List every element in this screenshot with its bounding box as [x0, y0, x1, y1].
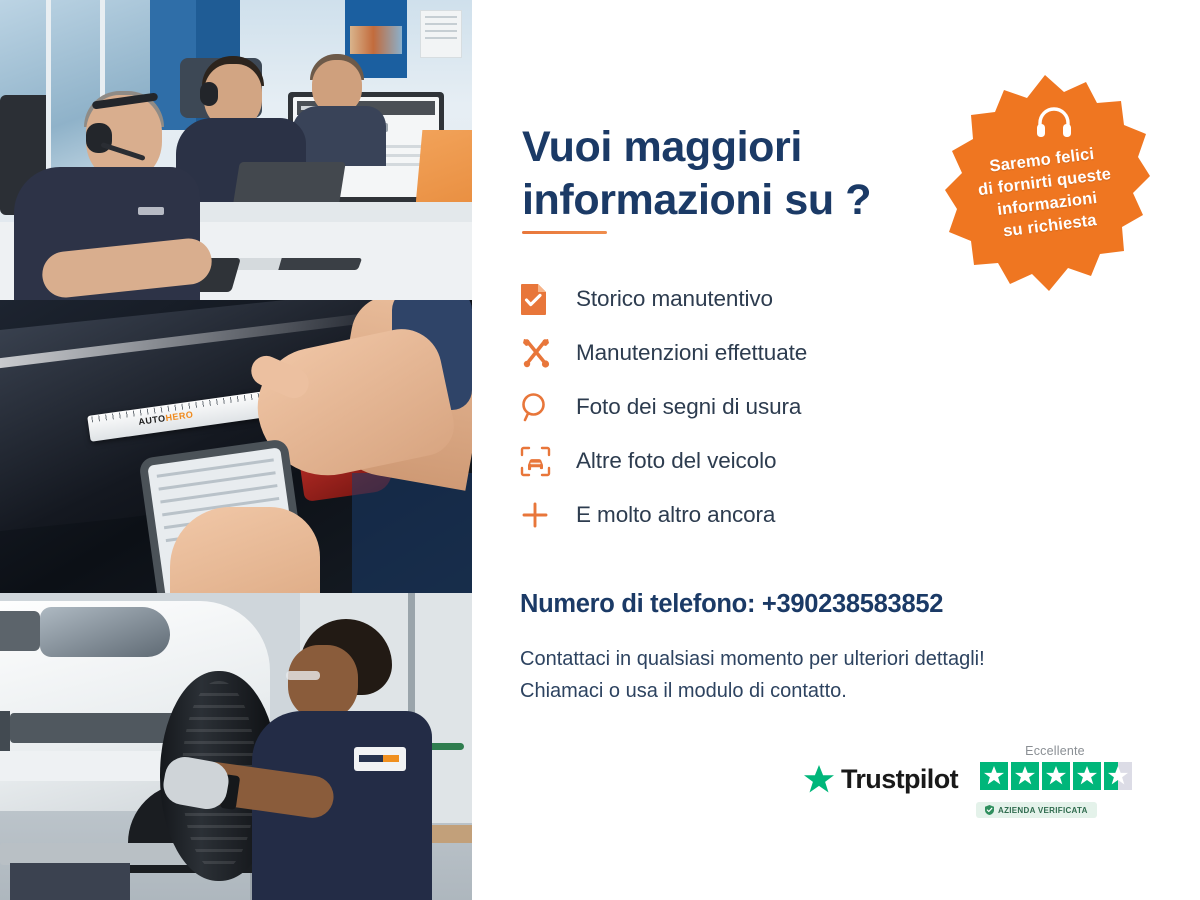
inspector-hand-two-decor — [170, 507, 320, 593]
feature-label: Manutenzioni effettuate — [576, 340, 807, 366]
headline-line-2: informazioni su ? — [522, 176, 871, 224]
trustpilot-star-rating — [980, 762, 1132, 790]
feature-item-storico-manutentivo: Storico manutentivo — [520, 272, 1000, 326]
desk-back-decor — [180, 202, 472, 222]
feature-label: Altre foto del veicolo — [576, 448, 776, 474]
star-1 — [980, 762, 1008, 790]
trustpilot-logo: Trustpilot — [804, 764, 958, 795]
car-vent-decor-2 — [0, 711, 10, 751]
feature-label: E molto altro ancora — [576, 502, 775, 528]
title-underline-rule — [522, 231, 607, 234]
car-scan-frame-icon — [520, 446, 576, 477]
page-title: Vuoi maggiori informazioni su ? — [522, 121, 942, 228]
agent-three-decor — [292, 54, 386, 150]
trustpilot-widget[interactable]: Trustpilot Eccellente — [804, 750, 1144, 850]
status-badge: AZIENDA VERIFICATA — [976, 802, 1097, 818]
phone-number-line: Numero di telefono: +390238583852 — [520, 590, 943, 619]
headline-line-1: Vuoi maggiori — [522, 123, 802, 171]
shield-check-icon — [985, 805, 994, 815]
contact-description: Contattaci in qualsiasi momento per ulte… — [520, 643, 1160, 708]
feature-list: Storico manutentivo Manutenzi — [520, 272, 1000, 542]
feature-item-altre-foto-veicolo: Altre foto del veicolo — [520, 434, 1000, 488]
contact-line-2: Chiamaci o usa il modulo di contatto. — [520, 675, 1160, 707]
agent-one-decor — [8, 95, 208, 300]
feature-item-manutenzioni-effettuate: Manutenzioni effettuate — [520, 326, 1000, 380]
plus-icon — [520, 500, 576, 530]
headset-icon — [1036, 105, 1072, 139]
feature-label: Foto dei segni di usura — [576, 394, 801, 420]
star-2 — [1011, 762, 1039, 790]
mechanic-decor — [242, 619, 442, 900]
contact-line-1: Contattaci in qualsiasi momento per ulte… — [520, 643, 1160, 675]
photo-column: AUTOHERO — [0, 0, 472, 900]
wall-paper-decor — [420, 10, 462, 58]
background-blue-decor — [352, 473, 472, 593]
star-4 — [1073, 762, 1101, 790]
poster-image-decor — [350, 26, 402, 54]
call-center-agents-photo — [0, 0, 472, 300]
magnifier-icon — [520, 392, 576, 422]
car-vent-decor — [10, 713, 180, 743]
star-3 — [1042, 762, 1070, 790]
feature-label: Storico manutentivo — [576, 286, 773, 312]
feature-item-foto-segni-usura: Foto dei segni di usura — [520, 380, 1000, 434]
trustpilot-star-icon — [804, 765, 834, 794]
tools-wrench-screwdriver-icon — [520, 337, 576, 369]
car-grille-decor — [0, 611, 40, 651]
vehicle-inspection-photo: AUTOHERO — [0, 300, 472, 593]
trustpilot-rating-label: Eccellente — [980, 744, 1130, 758]
tyre-service-photo — [0, 593, 472, 900]
verified-label: AZIENDA VERIFICATA — [998, 806, 1088, 815]
document-check-icon — [520, 283, 576, 316]
trustpilot-wordmark: Trustpilot — [841, 764, 958, 795]
feature-item-molto-altro: E molto altro ancora — [520, 488, 1000, 542]
promo-banner: AUTOHERO — [0, 0, 1200, 900]
car-lift-leg-decor — [10, 863, 130, 900]
car-headlight-decor — [40, 607, 170, 657]
star-5-half — [1104, 762, 1132, 790]
content-panel: Vuoi maggiori informazioni su ? Saremo f… — [472, 0, 1200, 900]
request-info-badge: Saremo felici di fornirti queste informa… — [940, 72, 1150, 294]
